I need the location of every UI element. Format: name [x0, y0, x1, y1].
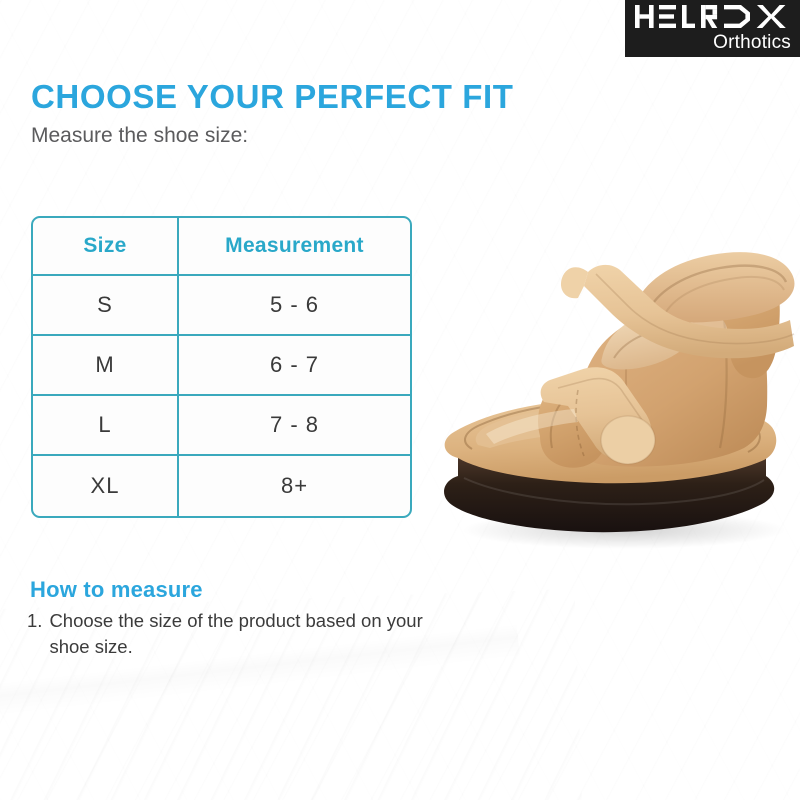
infographic-page: Orthotics CHOOSE YOUR PERFECT FIT Measur…	[0, 0, 800, 800]
column-header-measurement: Measurement	[179, 218, 410, 276]
product-image-cast-shoe	[428, 208, 800, 553]
cell-measurement: 7 - 8	[179, 396, 410, 456]
cell-size: L	[33, 396, 179, 456]
cell-measurement: 8+	[179, 456, 410, 516]
size-table: Size Measurement S 5 - 6 M 6 - 7 L 7 - 8	[31, 216, 412, 518]
cell-measurement: 5 - 6	[179, 276, 410, 336]
column-header-size: Size	[33, 218, 179, 276]
table-row: M 6 - 7	[33, 336, 410, 396]
how-to-measure-step: 1. Choose the size of the product based …	[27, 608, 457, 660]
page-title: CHOOSE YOUR PERFECT FIT	[31, 78, 514, 116]
cell-size: XL	[33, 456, 179, 516]
size-chart: Size Measurement S 5 - 6 M 6 - 7 L 7 - 8	[31, 216, 412, 518]
step-number: 1.	[27, 608, 49, 660]
table-row: L 7 - 8	[33, 396, 410, 456]
how-to-measure-title: How to measure	[30, 577, 203, 603]
brand-wordmark-icon	[635, 5, 792, 28]
table-row: S 5 - 6	[33, 276, 410, 336]
table-header-row: Size Measurement	[33, 218, 410, 276]
step-text: Choose the size of the product based on …	[49, 608, 457, 660]
cell-measurement: 6 - 7	[179, 336, 410, 396]
page-subtitle: Measure the shoe size:	[31, 124, 248, 148]
size-table-body: S 5 - 6 M 6 - 7 L 7 - 8 XL 8+	[33, 276, 410, 516]
brand-tagline: Orthotics	[713, 32, 791, 54]
cell-size: S	[33, 276, 179, 336]
table-row: XL 8+	[33, 456, 410, 516]
brand-logo: Orthotics	[625, 0, 800, 57]
size-table-head: Size Measurement	[33, 218, 410, 276]
cell-size: M	[33, 336, 179, 396]
